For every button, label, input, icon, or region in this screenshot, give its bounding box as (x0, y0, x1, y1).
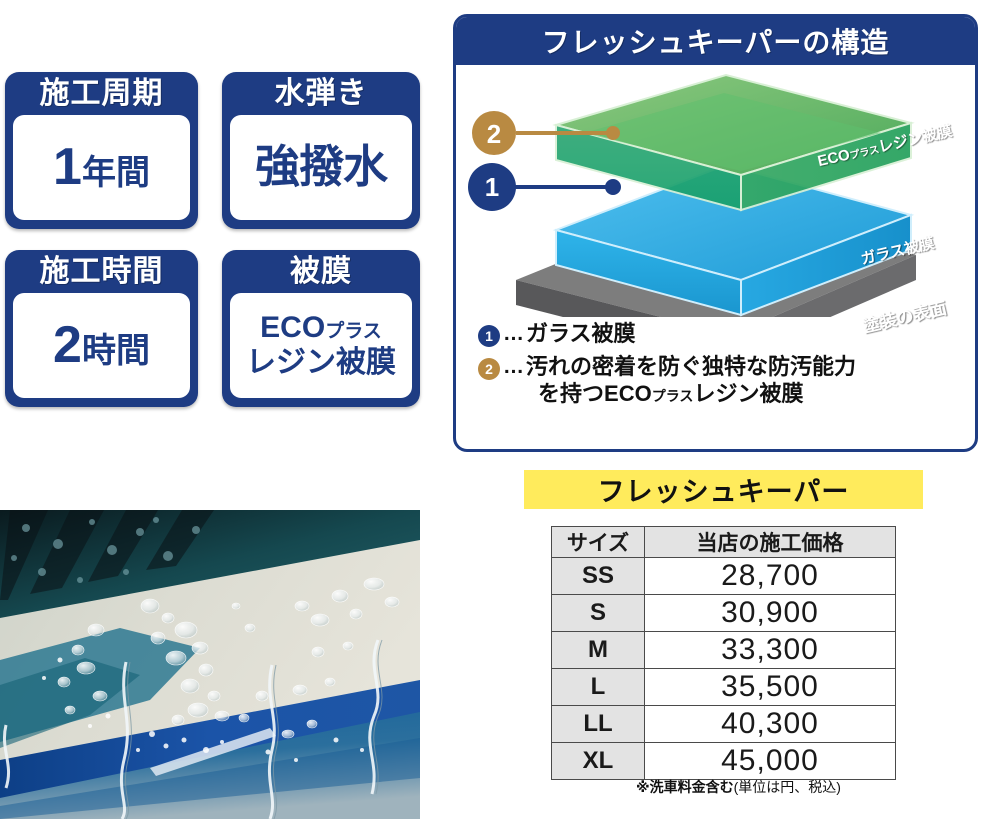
price-row-price-ss: 28,700 (645, 558, 896, 595)
feature-card-work-time-body: 2時間 (13, 293, 190, 399)
legend-badge-2: 2 (478, 358, 500, 380)
table-row: M 33,300 (552, 632, 896, 669)
structure-diagram-svg (456, 65, 975, 317)
price-row-size-xl: XL (552, 743, 645, 780)
price-table: サイズ 当店の施工価格 SS 28,700 S 30,900 M 33,300 … (551, 526, 896, 780)
feature-card-cycle-value-unit: 年間 (82, 154, 150, 192)
legend-badge-1: 1 (478, 325, 500, 347)
price-table-head: サイズ 当店の施工価格 (552, 527, 896, 558)
price-row-price-ll: 40,300 (645, 706, 896, 743)
structure-diagram: 2 1 ECOプラスレジン被膜 ガラス被膜 塗装の表面 (456, 65, 975, 317)
legend-text-1: ガラス被膜 (526, 321, 636, 348)
legend-text-2-line2: を持つECOプラスレジン被膜 (526, 381, 856, 408)
structure-panel-title: フレッシュキーパーの構造 (542, 21, 890, 61)
structure-panel-header: フレッシュキーパーの構造 (456, 17, 975, 65)
price-row-size-l: L (552, 669, 645, 706)
structure-legend: 1 … ガラス被膜 2 … 汚れの密着を防ぐ独特な防汚能力 を持つECOプラスレ… (456, 317, 975, 407)
feature-card-water-repellency-title: 水弾き (275, 78, 368, 110)
table-row: L 35,500 (552, 669, 896, 706)
price-table-note: ※洗車料金含む(単位は円、税込) (636, 777, 841, 797)
feature-card-work-time-title: 施工時間 (40, 256, 164, 288)
table-row: LL 40,300 (552, 706, 896, 743)
feature-card-water-repellency: 水弾き 強撥水 (222, 72, 420, 229)
feature-card-coating-value: ECOプラス レジン被膜 (246, 310, 396, 381)
feature-card-coating-body: ECOプラス レジン被膜 (230, 293, 412, 399)
price-table-header-size: サイズ (552, 527, 645, 558)
water-beading-photo (0, 510, 420, 819)
legend-item-1: 1 … ガラス被膜 (478, 321, 975, 348)
table-row: S 30,900 (552, 595, 896, 632)
price-row-price-l: 35,500 (645, 669, 896, 706)
feature-card-cycle-title: 施工周期 (40, 78, 164, 110)
table-row: SS 28,700 (552, 558, 896, 595)
price-row-size-ss: SS (552, 558, 645, 595)
price-table-note-bold: ※洗車料金含む (636, 779, 734, 795)
legend-dots-2: … (503, 354, 524, 380)
feature-card-coating: 被膜 ECOプラス レジン被膜 (222, 250, 420, 407)
price-row-size-ll: LL (552, 706, 645, 743)
feature-card-water-repellency-value: 強撥水 (255, 144, 387, 190)
price-row-price-xl: 45,000 (645, 743, 896, 780)
price-table-header-price: 当店の施工価格 (645, 527, 896, 558)
price-table-note-rest: (単位は円、税込) (734, 779, 841, 795)
feature-card-work-time-value-unit: 時間 (82, 332, 150, 370)
product-name-banner-title: フレッシュキーパー (598, 470, 850, 509)
feature-card-coating-title: 被膜 (290, 256, 352, 288)
feature-card-coating-value-plus: プラス (325, 321, 382, 342)
price-table-body: SS 28,700 S 30,900 M 33,300 L 35,500 LL … (552, 558, 896, 780)
price-row-price-s: 30,900 (645, 595, 896, 632)
price-row-size-m: M (552, 632, 645, 669)
feature-card-coating-value-resin: レジン被膜 (246, 346, 396, 379)
feature-card-work-time-value: 2時間 (53, 319, 150, 372)
price-row-price-m: 33,300 (645, 632, 896, 669)
feature-card-cycle: 施工周期 1年間 (5, 72, 198, 229)
feature-card-cycle-value-number: 1 (53, 138, 82, 196)
feature-card-water-repellency-body: 強撥水 (230, 115, 412, 221)
feature-card-cycle-value: 1年間 (53, 141, 150, 194)
structure-panel: フレッシュキーパーの構造 (453, 14, 978, 452)
legend-text-2: 汚れの密着を防ぐ独特な防汚能力 を持つECOプラスレジン被膜 (526, 354, 856, 408)
table-row: XL 45,000 (552, 743, 896, 780)
legend-dots-1: … (503, 321, 524, 347)
legend-item-2: 2 … 汚れの密着を防ぐ独特な防汚能力 を持つECOプラスレジン被膜 (478, 354, 975, 408)
price-row-size-s: S (552, 595, 645, 632)
water-beading-photo-graphic (0, 510, 420, 819)
price-table-header-row: サイズ 当店の施工価格 (552, 527, 896, 558)
feature-card-work-time: 施工時間 2時間 (5, 250, 198, 407)
feature-card-cycle-body: 1年間 (13, 115, 190, 221)
product-name-banner: フレッシュキーパー (524, 470, 923, 509)
feature-card-work-time-value-number: 2 (53, 316, 82, 374)
feature-card-coating-value-eco: ECO (260, 311, 325, 344)
